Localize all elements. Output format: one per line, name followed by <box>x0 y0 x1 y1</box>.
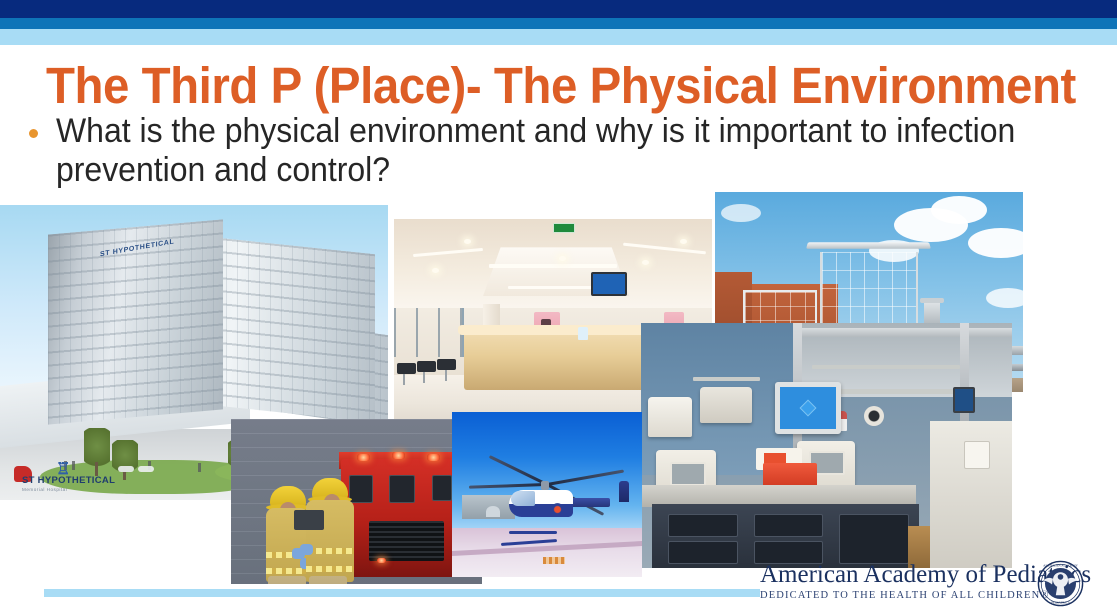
downlight <box>642 260 649 265</box>
rotor-hub <box>541 481 549 490</box>
helipad-hazard-marking <box>543 557 565 564</box>
drawer <box>668 541 737 564</box>
slide-title: The Third P (Place)- The Physical Enviro… <box>46 56 995 116</box>
downlight <box>432 268 439 273</box>
turnout-pants <box>309 576 347 584</box>
turnout-pants <box>268 576 306 584</box>
reagent-spool <box>864 406 884 426</box>
parked-car <box>138 466 154 472</box>
image-clinical-laboratory-analyzers <box>641 323 1012 568</box>
exterior-window <box>394 308 464 357</box>
lab-instrument <box>700 387 752 423</box>
slide-canvas: The Third P (Place)- The Physical Enviro… <box>0 0 1117 614</box>
waiting-seating <box>397 357 461 398</box>
lab-instrument <box>648 397 692 437</box>
aap-tagline: DEDICATED TO THE HEALTH OF ALL CHILDREN® <box>760 590 1032 601</box>
wall-shelf <box>812 365 960 369</box>
reflective-stripe <box>306 566 354 572</box>
reflective-stripe <box>306 548 354 554</box>
hospital-logo-subtitle: Memorial Hospital <box>22 487 115 492</box>
top-band-medium-blue <box>0 18 1117 29</box>
drawer <box>839 514 908 564</box>
waiting-chair <box>417 361 436 372</box>
truck-marker-light <box>377 558 386 563</box>
wall-shelf <box>693 377 760 381</box>
ceiling-beam <box>797 328 1012 337</box>
bullet-dot-icon <box>29 129 38 138</box>
hospital-logo: ♖ ST HYPOTHETICAL Memorial Hospital <box>22 464 115 492</box>
drawer <box>668 514 737 537</box>
hospital-logo-name: ST HYPOTHETICAL <box>22 475 115 486</box>
lab-tablet-device <box>953 387 975 413</box>
exit-sign <box>553 223 575 233</box>
light-strip <box>489 264 616 268</box>
bullet-item-text: What is the physical environment and why… <box>56 112 1029 190</box>
hand-sanitizer-dispenser <box>578 327 588 340</box>
sharps-container <box>763 463 817 487</box>
reception-desk <box>464 327 652 390</box>
paper-towel-dispenser <box>964 441 990 469</box>
svg-text:AMERICAN ACADEMY: AMERICAN ACADEMY <box>1043 564 1078 568</box>
top-band-light-blue <box>0 29 1117 45</box>
cockpit-windshield <box>511 491 535 506</box>
medical-equipment-case <box>294 510 324 530</box>
analyzer-screen <box>670 462 706 486</box>
reflective-stripe <box>266 568 308 574</box>
rooftop-dome <box>486 506 500 517</box>
image-firefighters-ems-with-fire-truck: 5 <box>231 419 482 584</box>
lab-computer-monitor <box>775 382 841 434</box>
wall-monitor <box>591 272 627 296</box>
waiting-chair <box>397 363 416 374</box>
downlight <box>559 256 566 261</box>
aap-organization-name: American Academy of Pediatrics <box>760 561 1032 588</box>
landing-skid <box>509 531 557 534</box>
drawer <box>754 514 823 537</box>
chair-leg <box>403 374 405 385</box>
truck-window <box>432 475 452 501</box>
emergency-light <box>357 454 370 461</box>
truck-grille <box>369 521 444 561</box>
svg-text:PEDIATRICS: PEDIATRICS <box>1051 601 1070 605</box>
cloud <box>721 204 761 222</box>
entry-canopy <box>806 242 931 248</box>
image-medical-transport-helicopter-helipad <box>452 412 642 577</box>
hospital-logo-mark-icon: ♖ <box>56 464 115 475</box>
base-cabinet <box>652 504 919 568</box>
chair-leg <box>445 370 447 381</box>
bullet-list: What is the physical environment and why… <box>26 112 1091 190</box>
tree <box>112 440 138 480</box>
star-of-life-icon <box>551 503 564 516</box>
hospital-tower-left: ST HYPOTHETICAL <box>48 219 223 424</box>
cloud <box>968 228 1023 258</box>
pedestrian <box>198 463 201 472</box>
chair-leg <box>423 372 425 383</box>
top-band-navy <box>0 0 1117 18</box>
cloud <box>931 196 987 224</box>
aap-seal-icon: AMERICAN ACADEMY PEDIATRICS <box>1037 560 1084 607</box>
truck-window <box>389 475 415 503</box>
footer-accent-bar <box>44 589 760 597</box>
exam-glove <box>300 544 313 555</box>
waiting-chair <box>437 359 456 370</box>
cloud <box>986 288 1023 308</box>
tail-fin <box>619 481 629 502</box>
parked-car <box>118 466 134 472</box>
truck-window <box>349 475 373 503</box>
aap-branding: American Academy of Pediatrics DEDICATED… <box>760 561 1032 601</box>
reception-desk-top <box>458 325 655 335</box>
emergency-light <box>427 454 440 461</box>
emergency-light <box>392 452 405 459</box>
